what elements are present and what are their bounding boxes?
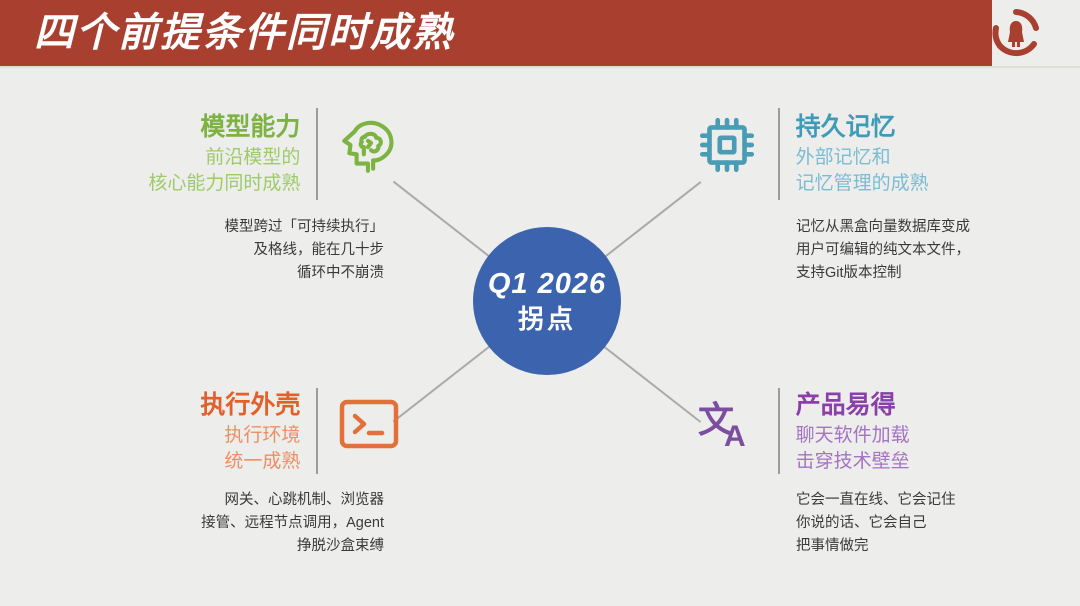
quadrant-product-accessibility: 文 A 产品易得 聊天软件加载 击穿技术壁垒 它会一直在线、它会记住 你说的话、… <box>690 388 1010 558</box>
quadrant-subtitle-line-1: 执行环境 <box>224 423 300 449</box>
quadrant-title: 执行外壳 <box>200 390 300 420</box>
quadrant-body-line-1: 记忆从黑盒向量数据库变成 <box>796 216 1010 239</box>
quadrant-divider <box>316 108 318 200</box>
quadrant-subtitle-line-1: 前沿模型的 <box>205 145 300 171</box>
quadrant-title: 持久记忆 <box>796 112 896 142</box>
quadrant-body-line-3: 把事情做完 <box>796 535 1010 558</box>
brand-circle-logo <box>988 6 1044 62</box>
quadrant-body-line-2: 接管、远程节点调用，Agent <box>96 512 384 535</box>
center-hub: Q1 2026 拐点 <box>473 227 621 375</box>
quadrant-body-line-3: 循环中不崩溃 <box>96 262 384 285</box>
terminal-icon <box>332 388 406 462</box>
quadrant-body-line-2: 用户可编辑的纯文本文件， <box>796 239 1010 262</box>
quadrant-model-capability: 模型能力 前沿模型的 核心能力同时成熟 模型跨过「可持续执行」 及格线，能在几十… <box>96 108 406 285</box>
page-title: 四个前提条件同时成熟 <box>34 11 454 55</box>
header-divider <box>0 66 1080 68</box>
slide-header: 四个前提条件同时成熟 <box>0 0 1080 68</box>
quadrant-body-line-2: 你说的话、它会自己 <box>796 512 1010 535</box>
quadrant-execution-shell: 执行外壳 执行环境 统一成熟 网关、心跳机制、浏览器 接管、远程节点调用，Age… <box>96 388 406 558</box>
svg-text:A: A <box>724 420 746 453</box>
quadrant-body-line-2: 及格线，能在几十步 <box>96 239 384 262</box>
quadrant-divider <box>316 388 318 474</box>
quadrant-subtitle-line-2: 核心能力同时成熟 <box>148 171 300 197</box>
quadrant-body: 它会一直在线、它会记住 你说的话、它会自己 把事情做完 <box>690 489 1010 558</box>
quadrant-subtitle-line-2: 统一成熟 <box>224 449 300 475</box>
translate-icon: 文 A <box>690 388 764 462</box>
quadrant-persistent-memory: 持久记忆 外部记忆和 记忆管理的成熟 记忆从黑盒向量数据库变成 用户可编辑的纯文… <box>690 108 1010 285</box>
brand-circle-logo-svg <box>988 6 1044 62</box>
quadrant-body: 网关、心跳机制、浏览器 接管、远程节点调用，Agent 挣脱沙盒束缚 <box>96 489 406 558</box>
quadrant-body-line-3: 挣脱沙盒束缚 <box>96 535 384 558</box>
quadrant-body-line-1: 它会一直在线、它会记住 <box>796 489 1010 512</box>
quadrant-body: 模型跨过「可持续执行」 及格线，能在几十步 循环中不崩溃 <box>96 216 406 285</box>
quadrant-title: 模型能力 <box>200 112 300 142</box>
hub-sub-label: 拐点 <box>518 303 576 335</box>
quadrant-body-line-1: 模型跨过「可持续执行」 <box>96 216 384 239</box>
quadrant-body-line-1: 网关、心跳机制、浏览器 <box>96 489 384 512</box>
quadrant-body: 记忆从黑盒向量数据库变成 用户可编辑的纯文本文件， 支持Git版本控制 <box>690 216 1010 285</box>
quadrant-subtitle-line-1: 聊天软件加载 <box>796 423 910 449</box>
cpu-chip-icon <box>690 108 764 182</box>
slide-canvas: 四个前提条件同时成熟 Q1 2026 拐点 模型能力 前沿模型的 核心能 <box>0 0 1080 606</box>
quadrant-title: 产品易得 <box>796 390 896 420</box>
hub-year-label: Q1 2026 <box>488 267 606 301</box>
quadrant-body-line-3: 支持Git版本控制 <box>796 262 1010 285</box>
quadrant-subtitle-line-1: 外部记忆和 <box>796 145 891 171</box>
translate-icon-svg: 文 A <box>694 396 760 454</box>
terminal-icon-svg <box>336 396 402 454</box>
head-brain-icon-svg <box>336 112 402 178</box>
cpu-chip-icon-svg <box>694 112 760 178</box>
head-brain-icon <box>332 108 406 182</box>
quadrant-subtitle-line-2: 击穿技术壁垒 <box>796 449 910 475</box>
quadrant-subtitle-line-2: 记忆管理的成熟 <box>796 171 929 197</box>
